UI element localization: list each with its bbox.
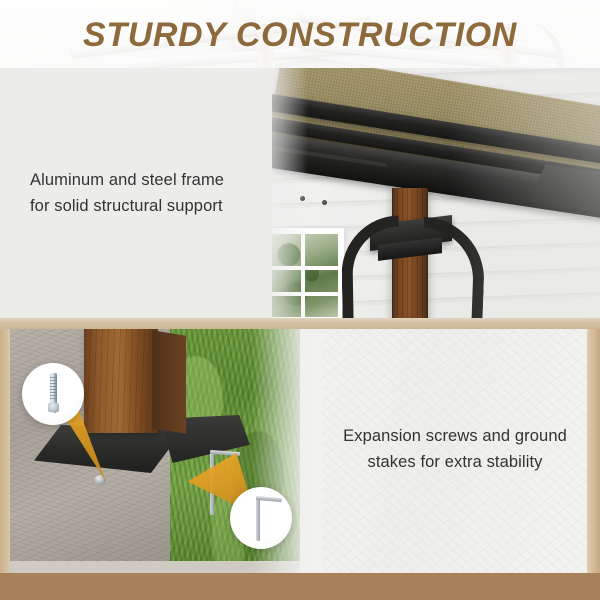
panel-border-right	[587, 329, 600, 573]
ground-stake-icon-shaft	[256, 499, 260, 541]
footer-bar	[0, 573, 600, 600]
callout-bubble-ground-stake	[230, 487, 292, 549]
expansion-screw-threads	[50, 377, 57, 399]
callout-bubble-expansion-screw	[22, 363, 84, 425]
beam-bolt-icon	[322, 200, 327, 205]
wood-post-base-side	[152, 330, 186, 433]
feature-text-frame-line2: for solid structural support	[30, 194, 260, 220]
expansion-screw-head	[94, 475, 106, 485]
page-title: STURDY CONSTRUCTION	[0, 0, 600, 70]
product-feature-poster: STURDY CONSTRUCTION Aluminum and stee	[0, 0, 600, 600]
panel-divider	[0, 318, 600, 329]
feature-text-anchoring-line2: stakes for extra stability	[326, 450, 584, 476]
feature-text-frame: Aluminum and steel frame for solid struc…	[30, 168, 260, 219]
poster-header: STURDY CONSTRUCTION	[0, 0, 600, 70]
feature-text-frame-line1: Aluminum and steel frame	[30, 168, 260, 194]
panel-border-left	[0, 329, 10, 573]
feature-text-anchoring: Expansion screws and ground stakes for e…	[326, 424, 584, 475]
wood-post-base	[84, 329, 158, 433]
feature-text-anchoring-line1: Expansion screws and ground	[326, 424, 584, 450]
